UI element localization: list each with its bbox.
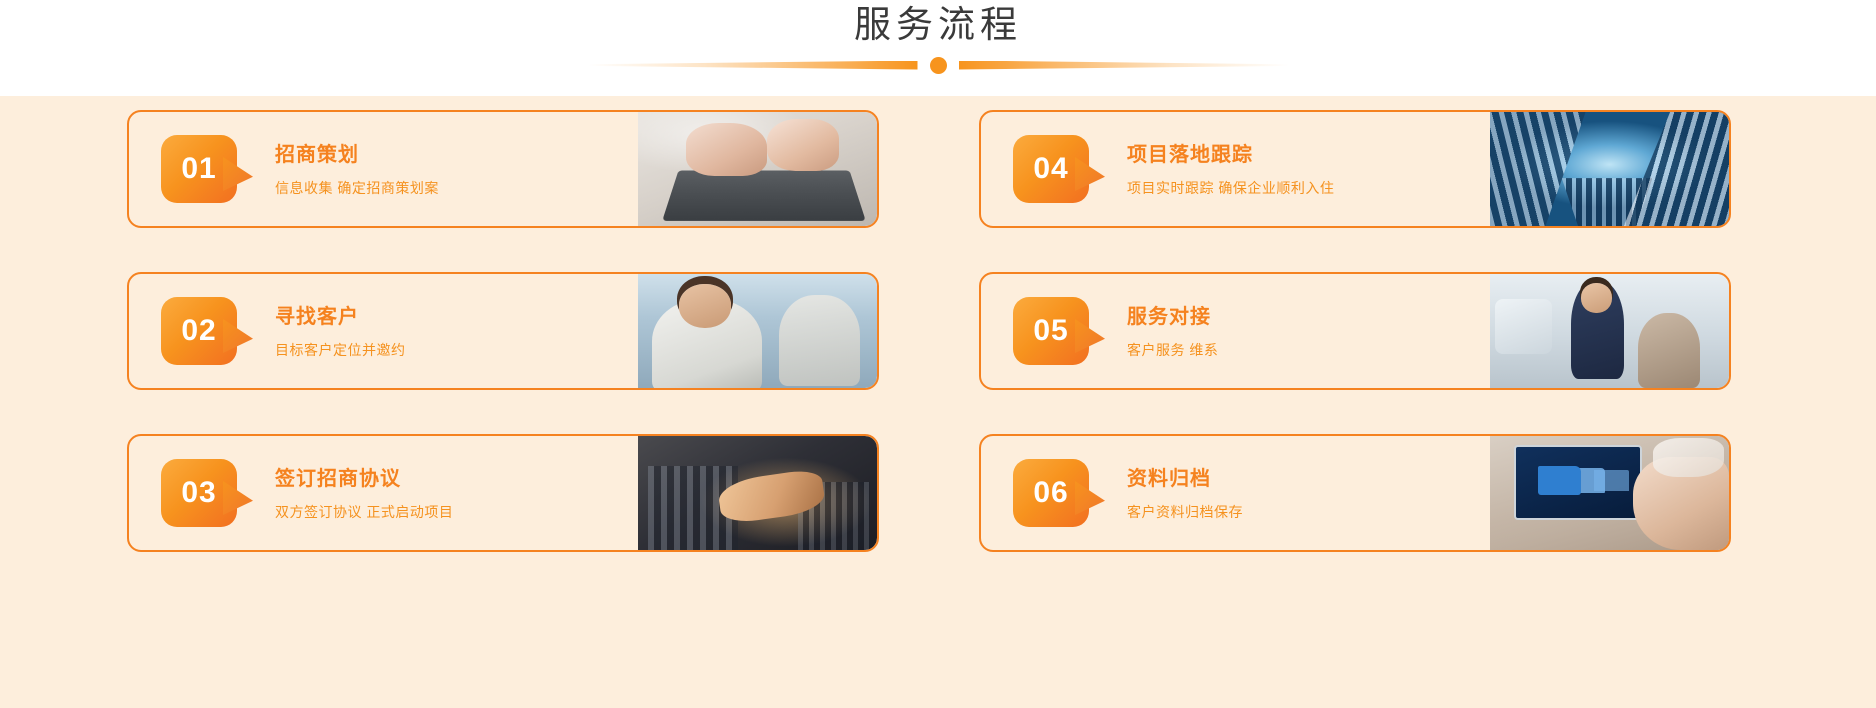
step-thumbnail <box>1490 112 1729 226</box>
step-number-badge: 01 <box>161 135 245 203</box>
step-card[interactable]: 06 资料归档 客户资料归档保存 <box>979 434 1731 552</box>
handshake-city-photo <box>638 436 877 550</box>
step-card[interactable]: 02 寻找客户 目标客户定位并邀约 <box>127 272 879 390</box>
step-card[interactable]: 04 项目落地跟踪 项目实时跟踪 确保企业顺利入住 <box>979 110 1731 228</box>
client-service-photo <box>1490 274 1729 388</box>
page-title: 服务流程 <box>0 2 1876 48</box>
badge-tail-icon <box>1075 157 1105 191</box>
badge-tail-icon <box>1075 481 1105 515</box>
badge-tail-icon <box>223 319 253 353</box>
step-card[interactable]: 01 招商策划 信息收集 确定招商策划案 <box>127 110 879 228</box>
step-thumbnail <box>638 436 877 550</box>
divider-bar-left <box>588 61 918 70</box>
skyscraper-upward-photo <box>1490 112 1729 226</box>
page-header: 服务流程 <box>0 0 1876 96</box>
step-thumbnail <box>638 274 877 388</box>
step-thumbnail <box>1490 274 1729 388</box>
step-number-badge: 05 <box>1013 297 1097 365</box>
step-number-badge: 03 <box>161 459 245 527</box>
title-divider <box>568 54 1308 76</box>
photo-detail <box>779 295 860 386</box>
steps-grid: 01 招商策划 信息收集 确定招商策划案 04 <box>127 110 1731 552</box>
divider-bar-right <box>959 61 1289 70</box>
step-card[interactable]: 05 服务对接 客户服务 维系 <box>979 272 1731 390</box>
badge-tail-icon <box>1075 319 1105 353</box>
step-thumbnail <box>1490 436 1729 550</box>
step-card[interactable]: 03 签订招商协议 双方签订协议 正式启动项目 <box>127 434 879 552</box>
steps-section: 01 招商策划 信息收集 确定招商策划案 04 <box>0 96 1876 708</box>
badge-tail-icon <box>223 157 253 191</box>
photo-detail-secondary <box>1495 299 1552 354</box>
badge-tail-icon <box>223 481 253 515</box>
step-number-badge: 06 <box>1013 459 1097 527</box>
photo-detail <box>1562 178 1653 226</box>
photo-detail-secondary <box>1653 438 1725 477</box>
service-process-page: 服务流程 01 招商策划 信息收集 确定招商策划案 <box>0 0 1876 708</box>
photo-detail <box>767 119 839 171</box>
step-number-badge: 04 <box>1013 135 1097 203</box>
photo-detail <box>798 482 870 550</box>
photo-detail <box>1638 313 1700 388</box>
step-thumbnail <box>638 112 877 226</box>
laptop-folder-archive-photo <box>1490 436 1729 550</box>
laptop-typing-photo <box>638 112 877 226</box>
step-number-badge: 02 <box>161 297 245 365</box>
call-center-photo <box>638 274 877 388</box>
divider-dot-icon <box>930 57 947 74</box>
